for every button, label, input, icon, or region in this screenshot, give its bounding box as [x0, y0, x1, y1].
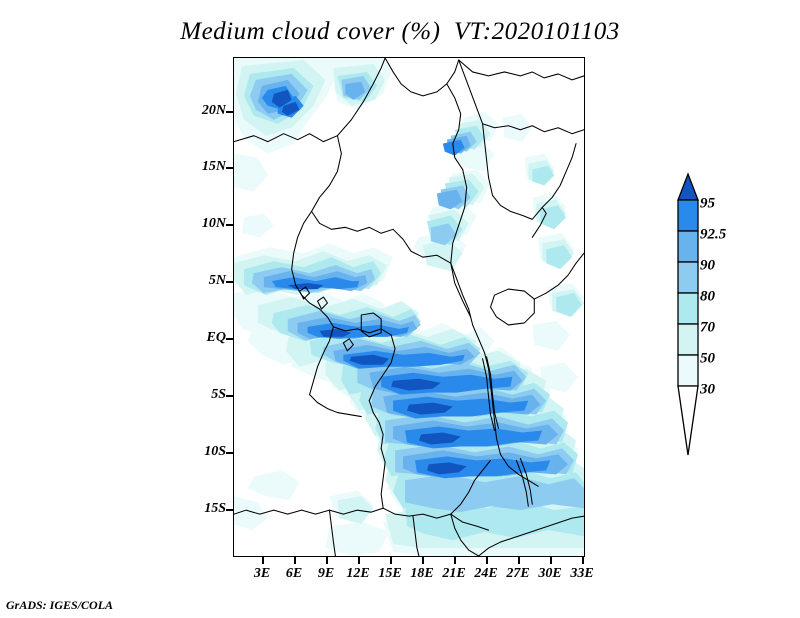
- lat-label-10S: 10S: [204, 444, 226, 460]
- colorbar-band-30-50: [678, 355, 698, 386]
- lon-tick-12E: [358, 557, 360, 564]
- lat-label-5S: 5S: [211, 387, 226, 403]
- lat-label-10N: 10N: [202, 216, 226, 232]
- colorbar-cap-bottom: [678, 386, 698, 455]
- lat-label-15N: 15N: [202, 159, 226, 175]
- lon-tick-30E: [550, 557, 552, 564]
- cloud-cover-map: [234, 58, 584, 556]
- lon-label-21E: 21E: [442, 566, 465, 582]
- lon-label-33E: 33E: [570, 566, 593, 582]
- colorbar-band-80-90: [678, 262, 698, 293]
- lon-label-15E: 15E: [378, 566, 401, 582]
- colorbar-swatches: [666, 170, 706, 465]
- colorbar-label-95: 95: [700, 196, 715, 213]
- lon-tick-3E: [262, 557, 264, 564]
- lon-tick-18E: [422, 557, 424, 564]
- colorbar-cap-top: [678, 174, 698, 200]
- colorbar-label-92_5: 92.5: [700, 227, 726, 244]
- colorbar-label-30: 30: [700, 382, 715, 399]
- lon-tick-21E: [454, 557, 456, 564]
- lon-label-3E: 3E: [254, 566, 270, 582]
- lat-tick-10N: [226, 224, 233, 226]
- longitude-axis: 3E 6E 9E 12E 15E 18E 21E 24E 27E 30E 33E: [233, 557, 585, 587]
- lat-tick-15S: [226, 509, 233, 511]
- lon-tick-27E: [518, 557, 520, 564]
- colorbar: 95 92.5 90 80 70 50 30: [666, 170, 786, 465]
- lat-label-5N: 5N: [209, 273, 226, 289]
- grads-attribution: GrADS: IGES/COLA: [6, 598, 113, 613]
- lon-label-9E: 9E: [318, 566, 334, 582]
- map-plot-area: [233, 57, 585, 557]
- lon-label-24E: 24E: [474, 566, 497, 582]
- lon-label-6E: 6E: [286, 566, 302, 582]
- lon-label-12E: 12E: [346, 566, 369, 582]
- lat-tick-5N: [226, 281, 233, 283]
- lat-tick-EQ: [226, 338, 233, 340]
- colorbar-band-90-92_5: [678, 231, 698, 262]
- latitude-axis: 20N 15N 10N 5N EQ 5S 10S 15S: [178, 57, 226, 557]
- lon-label-30E: 30E: [538, 566, 561, 582]
- lon-label-27E: 27E: [506, 566, 529, 582]
- colorbar-label-70: 70: [700, 320, 715, 337]
- colorbar-band-50-70: [678, 324, 698, 355]
- colorbar-band-70-80: [678, 293, 698, 324]
- colorbar-label-80: 80: [700, 289, 715, 306]
- lat-label-20N: 20N: [202, 103, 226, 119]
- page-title: Medium cloud cover (%) VT:2020101103: [0, 18, 800, 46]
- lat-tick-10S: [226, 452, 233, 454]
- lat-label-15S: 15S: [204, 501, 226, 517]
- lon-label-18E: 18E: [410, 566, 433, 582]
- lon-tick-33E: [582, 557, 584, 564]
- colorbar-label-50: 50: [700, 351, 715, 368]
- lat-tick-20N: [226, 111, 233, 113]
- colorbar-band-92_5-95: [678, 200, 698, 231]
- lon-tick-24E: [486, 557, 488, 564]
- lat-tick-5S: [226, 395, 233, 397]
- lon-tick-6E: [294, 557, 296, 564]
- lat-tick-15N: [226, 167, 233, 169]
- lon-tick-9E: [326, 557, 328, 564]
- colorbar-label-90: 90: [700, 258, 715, 275]
- lon-tick-15E: [390, 557, 392, 564]
- lat-label-EQ: EQ: [207, 330, 226, 346]
